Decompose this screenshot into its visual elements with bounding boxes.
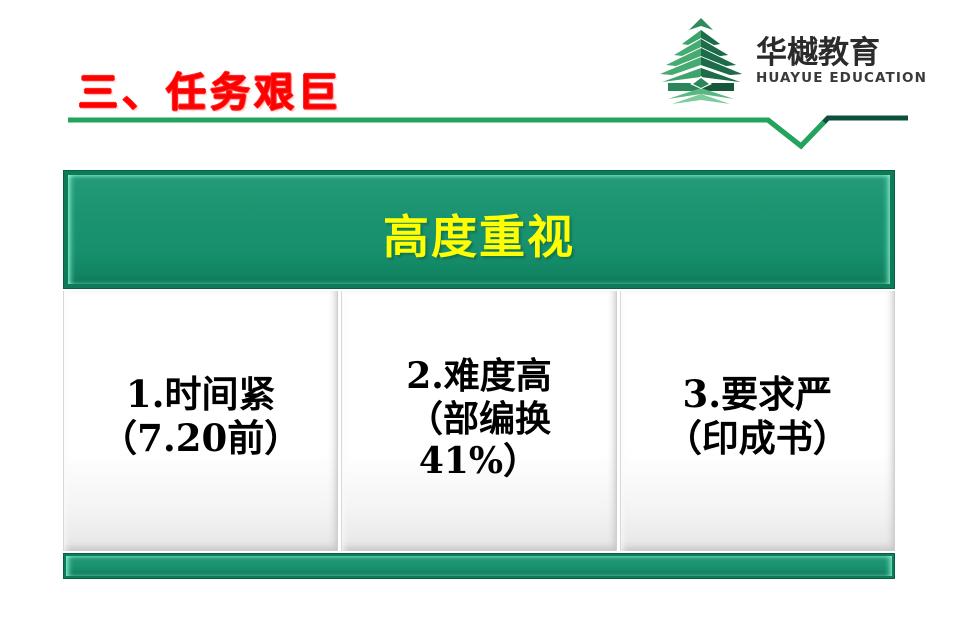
rule-light-stroke — [68, 120, 824, 146]
banner-header: 高度重视 — [63, 170, 895, 289]
content-card-1[interactable]: 1.时间紧 （7.20前） — [63, 291, 338, 551]
content-card-row: 1.时间紧 （7.20前） 2.难度高 （部编换 41%） 3.要求严 （印成书… — [63, 291, 895, 551]
pine-tree-logo-icon — [652, 14, 750, 110]
footer-bar — [63, 553, 895, 579]
logo-name-en: HUAYUE EDUCATION — [756, 70, 916, 86]
footer-bar-inner — [66, 556, 892, 576]
content-card-2-text: 2.难度高 （部编换 41%） — [400, 355, 558, 482]
pine-tree-svg — [652, 14, 750, 110]
content-card-1-text: 1.时间紧 （7.20前） — [94, 373, 307, 460]
content-card-3[interactable]: 3.要求严 （印成书） — [620, 291, 895, 551]
content-card-3-text: 3.要求严 （印成书） — [659, 373, 856, 460]
banner-heading: 高度重视 — [383, 201, 575, 267]
page-title: 三、任务艰巨 — [78, 60, 342, 118]
brand-logo: 华樾教育 HUAYUE EDUCATION — [652, 14, 914, 114]
banner-inner: 高度重视 — [68, 175, 890, 284]
title-divider-rule — [68, 112, 908, 152]
title-rule-svg — [68, 112, 908, 152]
logo-wordmark: 华樾教育 HUAYUE EDUCATION — [756, 36, 916, 86]
slide-canvas: 三、任务艰巨 — [0, 0, 960, 640]
logo-name-cn: 华樾教育 — [756, 36, 916, 70]
content-card-2[interactable]: 2.难度高 （部编换 41%） — [341, 291, 616, 551]
